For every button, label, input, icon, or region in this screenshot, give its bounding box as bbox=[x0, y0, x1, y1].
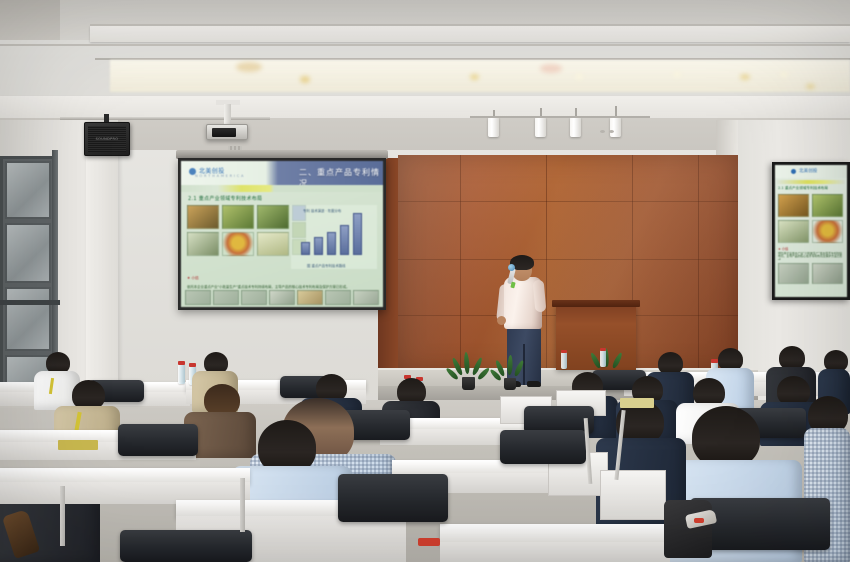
slide-section-heading: 2.1 重点产业领域专利技术布局 bbox=[188, 195, 262, 202]
lcd-thumbnail bbox=[812, 194, 843, 217]
chart-bar bbox=[314, 237, 323, 255]
ceiling-light-glint bbox=[780, 72, 788, 77]
bottle-cap bbox=[600, 348, 606, 351]
ceiling-stain bbox=[236, 62, 262, 72]
ceiling-recess bbox=[90, 26, 850, 42]
ceiling-stain bbox=[540, 64, 562, 73]
ceiling-stain bbox=[470, 74, 479, 80]
lcd-navbar bbox=[777, 180, 845, 184]
ceiling-fixture-dot bbox=[600, 130, 605, 133]
projection-screen: 北美创投 N O R T H A M E R I C A 二、重点产品专利情况 … bbox=[178, 158, 386, 310]
slide-chart: 专利 技术演进 · 年度分布 图 重点产品专利技术路线 bbox=[291, 205, 377, 269]
slide-navbar bbox=[181, 185, 383, 192]
lcd-thumbnail bbox=[778, 263, 809, 284]
chart-caption: 图 重点产品专利技术路线 bbox=[307, 263, 345, 268]
lcd-thumbnail bbox=[812, 220, 843, 243]
lcd-thumbnail bbox=[778, 194, 809, 217]
slide-thumbnail bbox=[187, 232, 219, 256]
desk-front-panel bbox=[440, 542, 670, 562]
chair bbox=[500, 430, 586, 464]
side-lcd-panel: 北美创投 2.1 重点产业领域专利技术布局 ★ 小结 依托本企业重点产业"小批量… bbox=[772, 162, 850, 300]
chart-bar bbox=[327, 232, 336, 255]
microphone-head-icon bbox=[508, 264, 515, 271]
pendant-light bbox=[570, 117, 581, 137]
ceiling-stain bbox=[806, 84, 815, 89]
backpack bbox=[664, 500, 712, 558]
speaker-brand-label: SOUNDPRO bbox=[96, 137, 119, 141]
chart-bar bbox=[301, 242, 310, 255]
slide-thumbnail bbox=[257, 232, 289, 256]
notebook bbox=[620, 398, 654, 408]
window-pane bbox=[5, 161, 51, 219]
slide-body: 专利 技术演进 · 年度分布 图 重点产品专利技术路线 bbox=[185, 203, 379, 281]
projected-slide: 北美创投 N O R T H A M E R I C A 二、重点产品专利情况 … bbox=[181, 161, 383, 307]
company-logo-icon bbox=[791, 169, 796, 174]
slide-thumbnail bbox=[222, 205, 254, 229]
slide-thumbnail bbox=[257, 205, 289, 229]
desk bbox=[440, 524, 670, 544]
water-bottle bbox=[178, 364, 185, 384]
ceiling-stain bbox=[300, 76, 310, 83]
bottle-cap bbox=[178, 361, 185, 365]
lcd-section-heading: 2.1 重点产业领域专利技术布局 bbox=[778, 186, 828, 191]
lcd-thumbnail bbox=[778, 220, 809, 243]
desk-leg bbox=[60, 486, 65, 546]
desk-module bbox=[600, 470, 666, 520]
ceiling-stain bbox=[740, 74, 750, 80]
slide-thumbnail bbox=[187, 205, 219, 229]
chart-bar bbox=[353, 213, 362, 255]
conference-hall-photo: SOUNDPRO 北美创投 N O R T H A M E R I C A 二、… bbox=[0, 0, 850, 562]
ceiling-projector bbox=[206, 124, 248, 140]
chair bbox=[338, 474, 448, 522]
pendant-light bbox=[488, 117, 499, 137]
person-head bbox=[692, 406, 760, 468]
chair bbox=[118, 424, 198, 456]
pendant-light bbox=[535, 117, 546, 137]
ceiling-trim-line bbox=[0, 44, 850, 46]
chair bbox=[120, 530, 252, 562]
desk-leg bbox=[240, 478, 245, 532]
slide-logo-subtext: N O R T H A M E R I C A bbox=[195, 174, 244, 178]
slide-note-text: 依托本企业重点产业"小批量生产"重点技术专利持续布局，主导产品的核心技术专利布局… bbox=[187, 285, 377, 289]
ceiling-corner-panel bbox=[0, 0, 60, 40]
ceiling-light-glint bbox=[673, 72, 681, 77]
pendant-light bbox=[610, 117, 621, 137]
ceiling-rail bbox=[60, 117, 270, 120]
slide-thumbnail bbox=[222, 232, 254, 256]
window-pane bbox=[5, 223, 51, 283]
ceiling-light-glint bbox=[575, 74, 583, 79]
ceiling-fixture-dot bbox=[609, 130, 614, 133]
side-lcd-content: 北美创投 2.1 重点产业领域专利技术布局 ★ 小结 依托本企业重点产业"小批量… bbox=[775, 165, 847, 297]
bottle-cap bbox=[561, 350, 567, 353]
cove-light-glow bbox=[110, 60, 850, 92]
projector-lens bbox=[212, 128, 236, 137]
water-bottle bbox=[600, 350, 606, 367]
ceiling-trim-line bbox=[90, 24, 850, 26]
chart-axis-note: 专利 技术演进 · 年度分布 bbox=[303, 208, 341, 213]
slide-bullet-marker: ★ 小结 bbox=[187, 276, 199, 281]
track-light-rail bbox=[470, 116, 650, 118]
projector-pole bbox=[224, 104, 231, 126]
shoe-accent bbox=[694, 518, 704, 523]
red-object bbox=[418, 538, 440, 546]
lcd-bullet-marker: ★ 小结 bbox=[778, 246, 788, 251]
water-bottle bbox=[561, 352, 567, 369]
chart-bar bbox=[340, 225, 349, 255]
lcd-note-text: 依托本企业重点产业"小批量生产"重点技术专利持续布局，主导产品的核心技术专利布局… bbox=[778, 252, 844, 260]
lcd-thumbnail bbox=[812, 263, 843, 284]
notebook bbox=[58, 440, 98, 450]
wall-speaker: SOUNDPRO bbox=[84, 122, 130, 156]
lcd-logo-text: 北美创投 bbox=[799, 168, 817, 174]
